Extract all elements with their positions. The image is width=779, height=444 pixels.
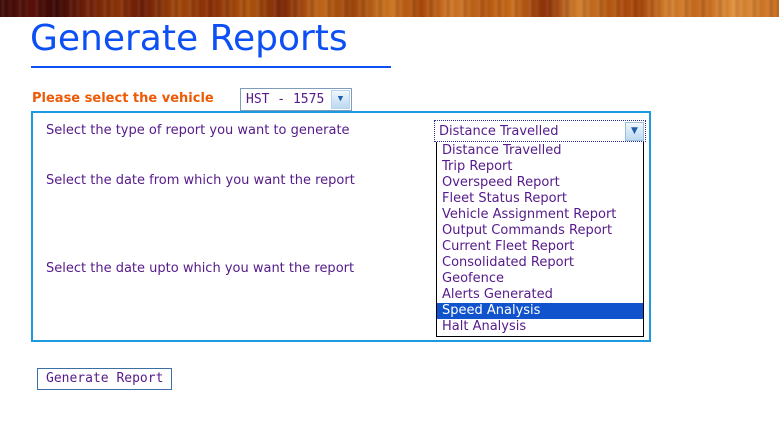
report-type-option[interactable]: Geofence [437,271,643,287]
page-title-underline [31,66,391,68]
report-type-select-value: Distance Travelled [439,124,625,139]
chevron-down-icon[interactable]: ▼ [625,122,644,141]
decorative-banner-strip [0,0,779,17]
vehicle-select-label: Please select the vehicle [32,91,214,106]
report-type-select[interactable]: Distance Travelled ▼ [434,120,646,142]
report-type-label: Select the type of report you want to ge… [46,123,350,138]
chevron-down-icon[interactable]: ▼ [331,90,350,109]
report-type-option[interactable]: Output Commands Report [437,223,643,239]
report-type-option[interactable]: Fleet Status Report [437,191,643,207]
report-type-option[interactable]: Consolidated Report [437,255,643,271]
report-type-option[interactable]: Halt Analysis [437,319,643,335]
generate-report-button[interactable]: Generate Report [37,368,172,390]
report-type-option[interactable]: Overspeed Report [437,175,643,191]
report-type-option-list[interactable]: Distance TravelledTrip ReportOverspeed R… [436,142,644,337]
date-upto-label: Select the date upto which you want the … [46,261,354,276]
report-type-option[interactable]: Distance Travelled [437,143,643,159]
report-type-option[interactable]: Speed Analysis [437,303,643,319]
report-type-option[interactable]: Current Fleet Report [437,239,643,255]
report-type-option[interactable]: Alerts Generated [437,287,643,303]
report-type-option[interactable]: Trip Report [437,159,643,175]
page-title: Generate Reports [30,18,348,59]
vehicle-select[interactable]: HST - 1575 ▼ [240,88,352,111]
date-from-label: Select the date from which you want the … [46,173,355,188]
report-type-option[interactable]: Vehicle Assignment Report [437,207,643,223]
vehicle-select-value: HST - 1575 [246,92,331,107]
